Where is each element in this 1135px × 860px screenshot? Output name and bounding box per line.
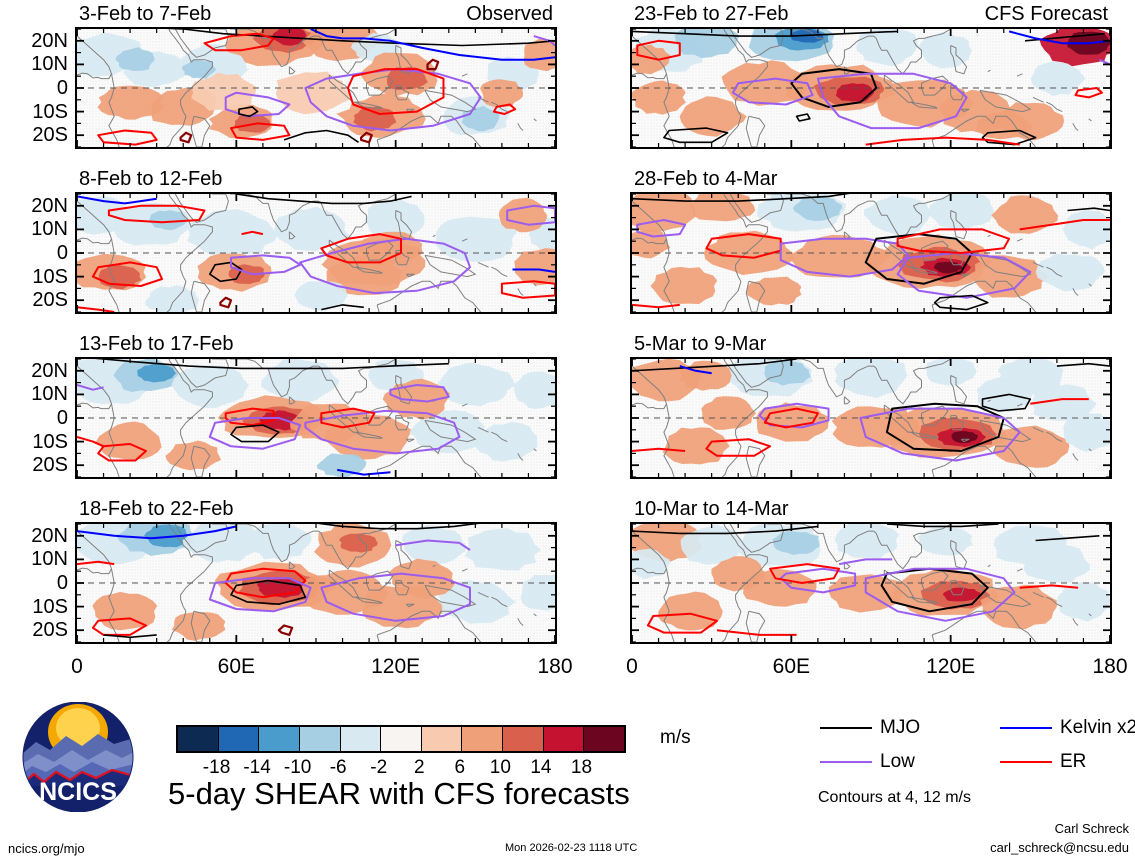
y-axis-tick-label: 20S — [0, 455, 68, 475]
map-plot-fcst-4 — [630, 522, 1112, 644]
y-axis-tick-label: 20N — [0, 526, 68, 546]
x-axis-tick-label: 180 — [1070, 656, 1135, 677]
x-axis-tick-label: 0 — [592, 656, 672, 677]
legend-label: ER — [1060, 752, 1086, 771]
panel-title-obs-2: 8-Feb to 12-Feb — [79, 169, 222, 189]
colorbar-segment — [544, 727, 585, 751]
map-plot-fcst-2 — [630, 192, 1112, 314]
x-axis-tick-label: 60E — [196, 656, 276, 677]
colorbar-segment — [381, 727, 422, 751]
legend-label: Low — [880, 752, 915, 771]
panel-title-obs-3: 13-Feb to 17-Feb — [79, 334, 234, 354]
timestamp: Mon 2026-02-23 1118 UTC — [505, 843, 637, 854]
y-axis-tick-label: 0 — [0, 408, 68, 428]
colorbar-segment — [178, 727, 219, 751]
legend-line-swatch — [1000, 727, 1052, 729]
legend-line-swatch — [1000, 761, 1052, 763]
colorbar-segment — [422, 727, 463, 751]
x-axis-tick-label: 0 — [37, 656, 117, 677]
panel-title-fcst-2: 28-Feb to 4-Mar — [634, 169, 777, 189]
x-axis-tick-label: 180 — [515, 656, 595, 677]
map-plot-fcst-3 — [630, 357, 1112, 479]
ncics-logo: NCICS — [22, 702, 134, 812]
y-axis-tick-label: 0 — [0, 243, 68, 263]
y-axis-tick-label: 10N — [0, 384, 68, 404]
panel-title-fcst-1: 23-Feb to 27-Feb — [634, 4, 789, 24]
colorbar-segment — [219, 727, 260, 751]
map-plot-obs-1 — [75, 27, 557, 149]
colorbar-segment — [584, 727, 624, 751]
figure-title: 5-day SHEAR with CFS forecasts — [168, 778, 630, 809]
legend-item-low: Low — [820, 752, 915, 771]
panel-title-fcst-4: 10-Mar to 14-Mar — [634, 499, 789, 519]
panel-title-fcst-3: 5-Mar to 9-Mar — [634, 334, 766, 354]
legend-line-swatch — [820, 727, 872, 729]
colorbar-units-label: m/s — [660, 728, 691, 747]
colorbar-segment — [259, 727, 300, 751]
colorbar-segment — [503, 727, 544, 751]
y-axis-tick-label: 20N — [0, 361, 68, 381]
legend-line-swatch — [820, 761, 872, 763]
author-name: Carl Schreck — [1055, 822, 1129, 835]
colorbar-segment — [300, 727, 341, 751]
legend-item-er: ER — [1000, 752, 1086, 771]
x-axis-tick-label: 120E — [356, 656, 436, 677]
colorbar-tick-label: 18 — [551, 758, 611, 777]
column-header-right: CFS Forecast — [908, 4, 1108, 24]
panel-title-obs-1: 3-Feb to 7-Feb — [79, 4, 211, 24]
map-plot-obs-4 — [75, 522, 557, 644]
y-axis-tick-label: 10S — [0, 102, 68, 122]
site-url: ncics.org/mjo — [8, 842, 85, 855]
x-axis-tick-label: 60E — [751, 656, 831, 677]
y-axis-tick-label: 10N — [0, 219, 68, 239]
column-header-left: Observed — [353, 4, 553, 24]
y-axis-tick-label: 10N — [0, 54, 68, 74]
ncics-logo-text: NCICS — [39, 778, 117, 806]
y-axis-tick-label: 10S — [0, 267, 68, 287]
legend-item-kelvin-x2: Kelvin x2 — [1000, 718, 1135, 737]
y-axis-tick-label: 20S — [0, 125, 68, 145]
map-plot-obs-2 — [75, 192, 557, 314]
colorbar-segment — [341, 727, 382, 751]
y-axis-tick-label: 0 — [0, 573, 68, 593]
y-axis-tick-label: 0 — [0, 78, 68, 98]
y-axis-tick-label: 20S — [0, 620, 68, 640]
legend-item-mjo: MJO — [820, 718, 920, 737]
author-email: carl_schreck@ncsu.edu — [990, 841, 1129, 854]
map-plot-obs-3 — [75, 357, 557, 479]
contour-note: Contours at 4, 12 m/s — [818, 790, 971, 806]
y-axis-tick-label: 20N — [0, 196, 68, 216]
map-plot-fcst-1 — [630, 27, 1112, 149]
legend-label: Kelvin x2 — [1060, 718, 1135, 737]
y-axis-tick-label: 20S — [0, 290, 68, 310]
colorbar-segment — [462, 727, 503, 751]
panel-title-obs-4: 18-Feb to 22-Feb — [79, 499, 234, 519]
x-axis-tick-label: 120E — [911, 656, 991, 677]
y-axis-tick-label: 10S — [0, 597, 68, 617]
y-axis-tick-label: 10S — [0, 432, 68, 452]
legend-label: MJO — [880, 718, 920, 737]
y-axis-tick-label: 10N — [0, 549, 68, 569]
y-axis-tick-label: 20N — [0, 31, 68, 51]
colorbar — [176, 725, 626, 753]
